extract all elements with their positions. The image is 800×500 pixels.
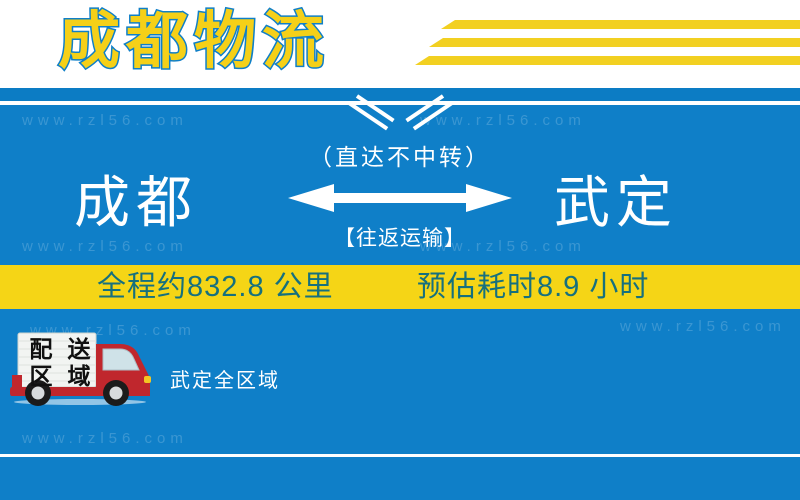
estimated-duration: 预估耗时8.9 小时 (417, 265, 649, 309)
watermark: www.rzl56.com (22, 430, 188, 447)
logistics-poster: 成都物流 www.rzl56.com www.rzl56.com www.rzl… (0, 0, 800, 500)
truck-box-char: 区 (22, 363, 60, 390)
watermark: www.rzl56.com (420, 112, 586, 129)
truck-box-char: 送 (60, 336, 98, 363)
footer-band: 公司地址：四川省成都市新都区三河场元贞国际 (0, 457, 800, 500)
header-band: 成都物流 (0, 0, 800, 88)
roundtrip-note: 【往返运输】 (288, 222, 512, 252)
metrics-band: 全程约832.8 公里 预估耗时8.9 小时 (0, 265, 800, 309)
destination-city: 武定 (554, 168, 678, 238)
header-stripe-1 (441, 20, 800, 29)
origin-city: 成都 (74, 168, 198, 238)
watermark: www.rzl56.com (22, 238, 188, 255)
bidirectional-arrow-icon (288, 182, 512, 216)
watermark: www.rzl56.com (22, 112, 188, 129)
truck-box-char: 域 (60, 363, 98, 390)
header-stripe-3 (415, 56, 800, 65)
coverage-area: 武定全区域 (170, 364, 280, 393)
header-underline-gap (0, 88, 800, 101)
header-underline (0, 101, 800, 105)
header-stripe-2 (429, 38, 800, 47)
truck-box-label: 配 送 区 域 (22, 336, 98, 390)
total-distance: 全程约832.8 公里 (97, 265, 334, 309)
watermark: www.rzl56.com (620, 318, 786, 335)
direct-shipping-note: （直达不中转） (0, 138, 800, 172)
page-title: 成都物流 (58, 0, 330, 86)
chevron-down-icon (413, 101, 453, 130)
truck-box-char: 配 (22, 336, 60, 363)
